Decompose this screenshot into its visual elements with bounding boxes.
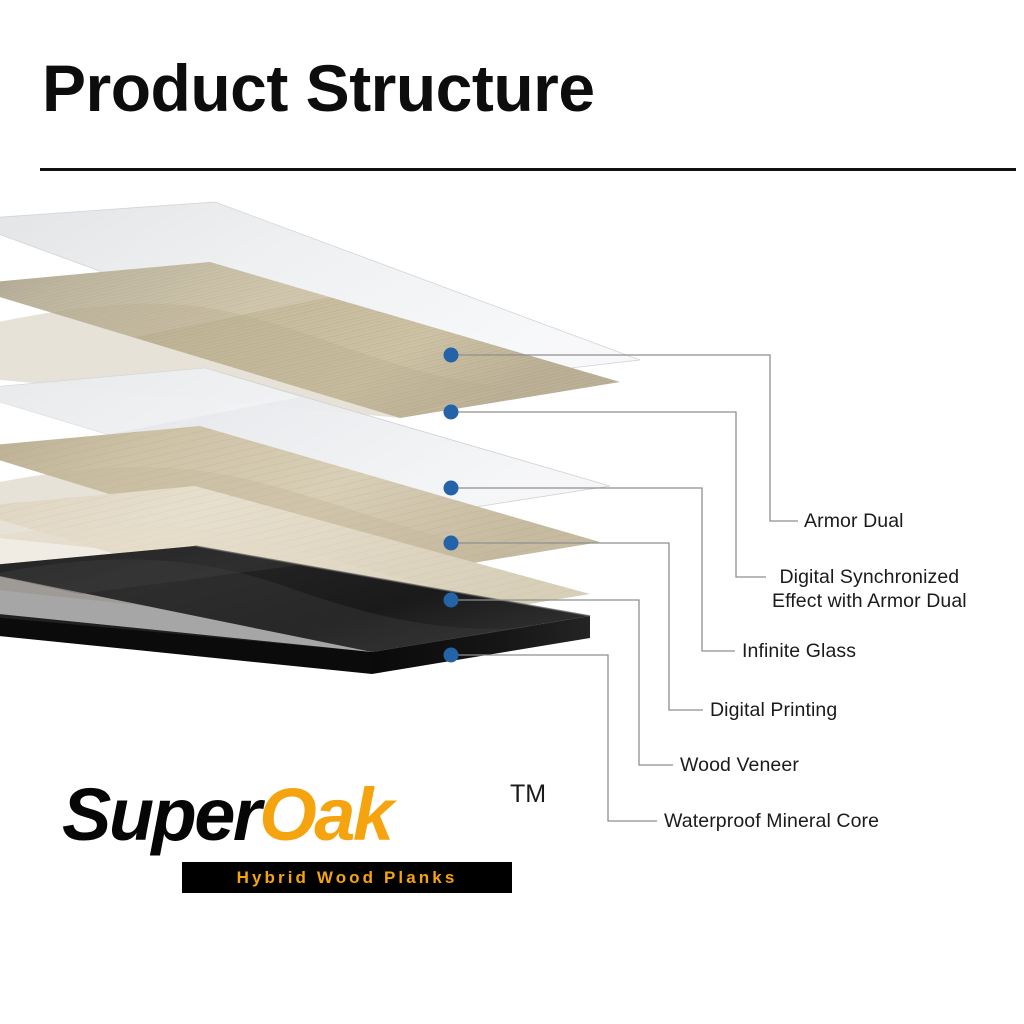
logo-tagline-text: Hybrid Wood Planks: [182, 862, 512, 893]
exploded-layer-stack-illustration: [0, 190, 700, 770]
page-title: Product Structure: [42, 55, 595, 121]
callout-label-armor-dual: Armor Dual: [804, 510, 904, 534]
logo-tagline-bar: Hybrid Wood Planks: [182, 862, 512, 893]
product-structure-page: Product Structure: [0, 0, 1024, 1024]
callout-label-line-1: Digital Synchronized: [779, 566, 959, 588]
logo-word-super: Super: [62, 773, 259, 856]
callout-label-infinite-glass: Infinite Glass: [742, 640, 856, 664]
callout-label-waterproof-mineral-core: Waterproof Mineral Core: [664, 810, 879, 834]
callout-label-line-2: Effect with Armor Dual: [772, 590, 967, 612]
logo-wordmark: SuperOak: [62, 778, 392, 852]
layer-shape-waterproof-mineral-core: [0, 546, 590, 674]
title-divider-rule: [40, 168, 1016, 171]
callout-label-digital-synchronized: Digital SynchronizedEffect with Armor Du…: [772, 566, 967, 614]
superoak-logo: SuperOak TM Hybrid Wood Planks: [62, 778, 532, 896]
callout-label-digital-printing: Digital Printing: [710, 699, 837, 723]
trademark-symbol: TM: [510, 780, 546, 809]
callout-label-wood-veneer: Wood Veneer: [680, 754, 799, 778]
logo-word-oak: Oak: [259, 773, 391, 856]
